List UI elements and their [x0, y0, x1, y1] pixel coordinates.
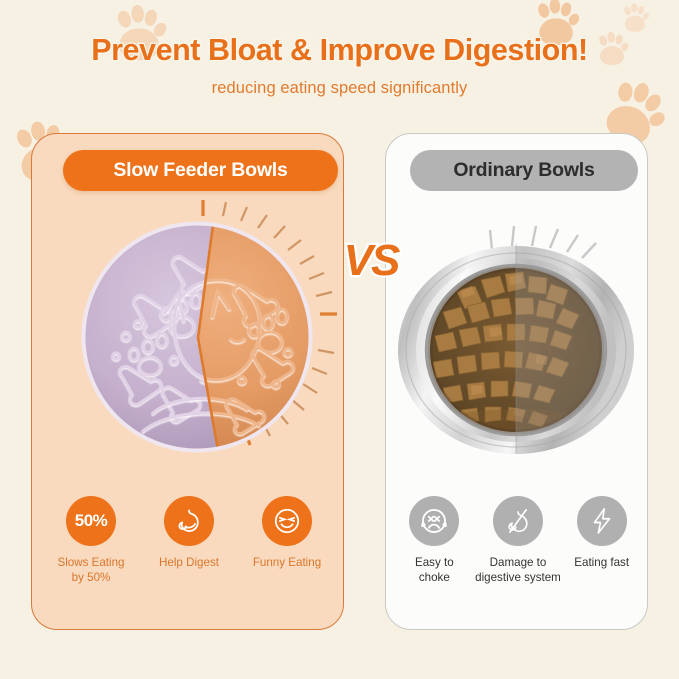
- page-title: Prevent Bloat & Improve Digestion!: [0, 33, 679, 68]
- lightning-bolt-icon: [577, 496, 627, 546]
- feature-list-slow-feeder: 50% Slows Eating by 50% Help Digest: [45, 496, 333, 586]
- feature-label: Help Digest: [143, 556, 235, 571]
- infographic-canvas: Prevent Bloat & Improve Digestion! reduc…: [0, 0, 679, 679]
- feature-label: Funny Eating: [241, 556, 333, 571]
- badge-ordinary-bowls: Ordinary Bowls: [410, 150, 638, 191]
- header: Prevent Bloat & Improve Digestion! reduc…: [0, 0, 679, 118]
- feature-eating-fast: Eating fast: [566, 496, 637, 586]
- percent-50-text: 50%: [75, 511, 108, 531]
- badge-slow-feeder-bowls: Slow Feeder Bowls: [63, 150, 338, 191]
- feature-list-ordinary: Easy to choke Damage to digestive system…: [399, 496, 637, 586]
- feature-digestive-damage: Damage to digestive system: [470, 496, 567, 586]
- happy-face-icon: [262, 496, 312, 546]
- badge-left-label: Slow Feeder Bowls: [113, 161, 287, 181]
- stomach-icon: [164, 496, 214, 546]
- feature-funny-eating: Funny Eating: [241, 496, 333, 586]
- stomach-damage-icon: [493, 496, 543, 546]
- ordinary-bowl-image: [397, 240, 635, 454]
- page-subtitle: reducing eating speed significantly: [0, 79, 679, 98]
- percent-50-icon: 50%: [66, 496, 116, 546]
- feature-label: Eating fast: [566, 556, 637, 571]
- choking-face-icon: [409, 496, 459, 546]
- slow-feeder-bowl-image: [78, 218, 316, 456]
- feature-label: Easy to choke: [399, 556, 470, 586]
- feature-label: Damage to digestive system: [470, 556, 567, 586]
- feature-help-digest: Help Digest: [143, 496, 235, 586]
- feature-label: Slows Eating by 50%: [45, 556, 137, 586]
- vs-label: VS: [331, 236, 411, 286]
- feature-easy-to-choke: Easy to choke: [399, 496, 470, 586]
- badge-right-label: Ordinary Bowls: [453, 161, 594, 181]
- feature-slows-eating: 50% Slows Eating by 50%: [45, 496, 137, 586]
